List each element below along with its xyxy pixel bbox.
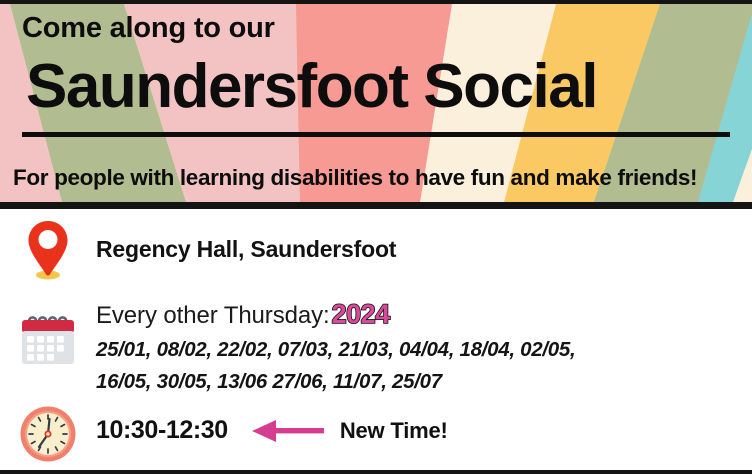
header-subtitle-text: For people with learning disabilities to… bbox=[13, 165, 697, 191]
poster-details-body: Regency Hall, Saundersfoot bbox=[0, 209, 752, 470]
title-underline-divider bbox=[22, 132, 730, 137]
left-arrow-icon-slot bbox=[250, 418, 326, 444]
time-label: 10:30-12:30 bbox=[96, 416, 228, 445]
detail-row-venue: Regency Hall, Saundersfoot bbox=[0, 219, 396, 281]
clock-icon-slot bbox=[0, 404, 96, 464]
detail-row-time: 10:30-12:30 New Time! bbox=[0, 404, 448, 464]
clock-icon bbox=[18, 404, 78, 464]
location-pin-icon bbox=[25, 219, 71, 281]
calendar-icon bbox=[17, 311, 79, 371]
calendar-icon-slot bbox=[0, 311, 96, 371]
dates-heading: Every other Thursday:2024 bbox=[96, 299, 575, 330]
poster: Come along to our Saundersfoot Social Fo… bbox=[0, 0, 752, 474]
dates-year-highlight: 2024 bbox=[332, 299, 390, 329]
location-pin-icon-slot bbox=[0, 219, 96, 281]
left-arrow-icon bbox=[250, 418, 326, 444]
new-time-note: New Time! bbox=[340, 418, 448, 444]
header-kicker-text: Come along to our bbox=[22, 12, 275, 45]
dates-heading-prefix: Every other Thursday: bbox=[96, 302, 330, 329]
dates-line: 16/05, 30/05, 13/06 27/06, 11/07, 25/07 bbox=[96, 370, 575, 394]
page-title: Saundersfoot Social bbox=[26, 56, 597, 118]
dates-line: 25/01, 08/02, 22/02, 07/03, 21/03, 04/04… bbox=[96, 338, 575, 362]
detail-row-dates: Every other Thursday:2024 25/01, 08/02, … bbox=[0, 297, 575, 394]
poster-header: Come along to our Saundersfoot Social Fo… bbox=[0, 4, 752, 209]
venue-label: Regency Hall, Saundersfoot bbox=[96, 236, 396, 263]
